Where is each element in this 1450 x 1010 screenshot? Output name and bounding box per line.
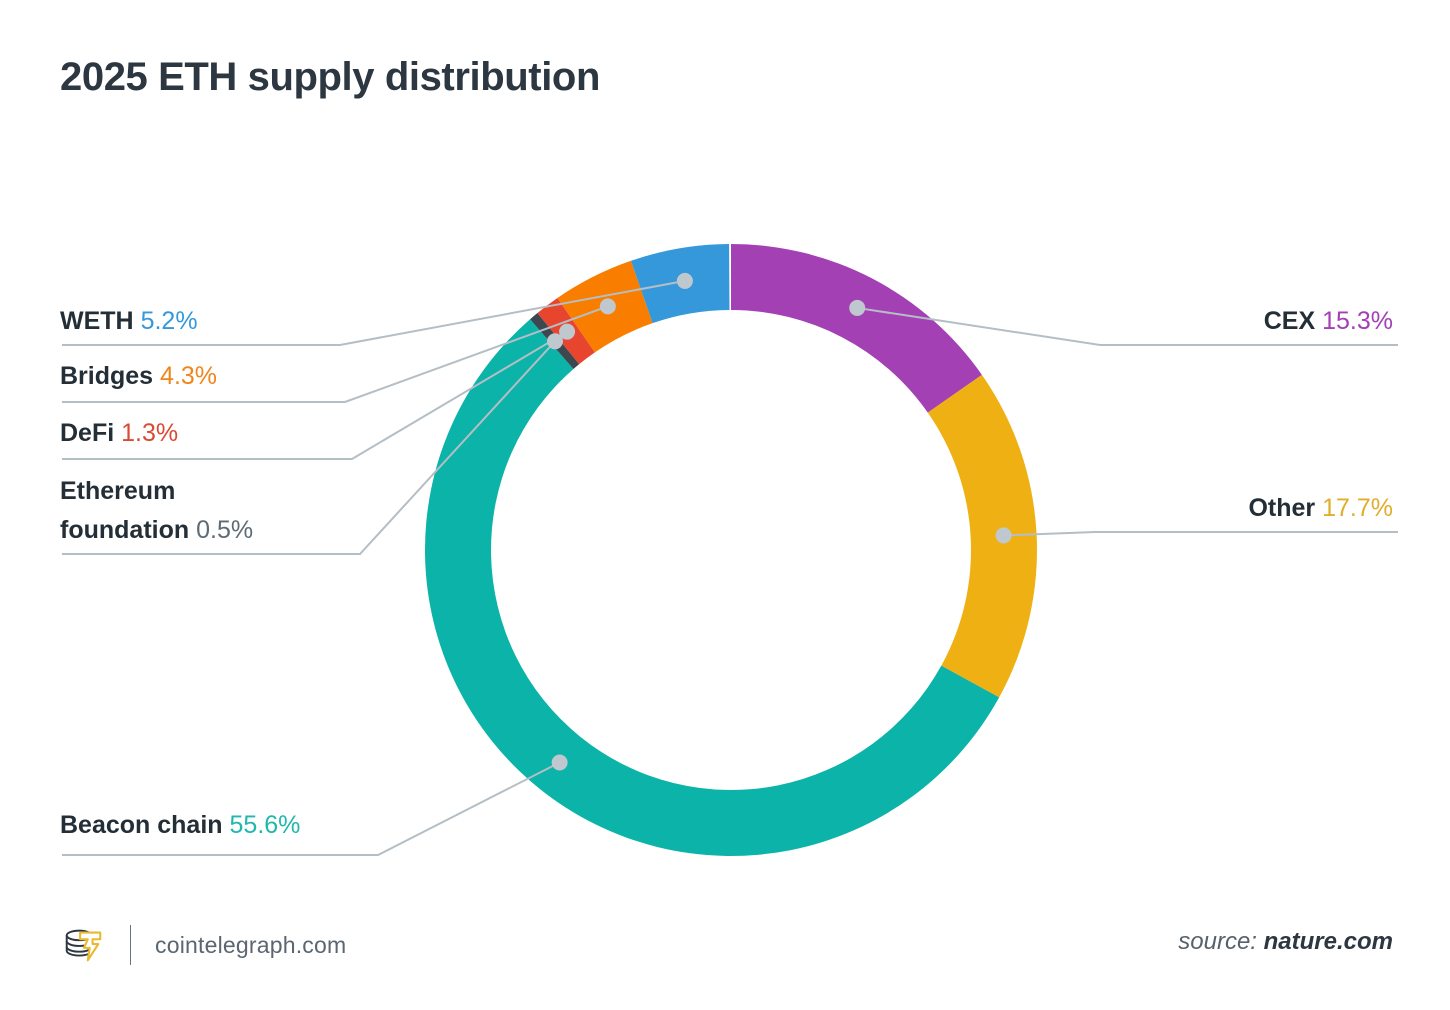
donut-slice-beacon-chain [425,319,999,856]
callout-beacon-chain: Beacon chain 55.6% [60,806,300,845]
callout-other-value: 17.7% [1322,494,1393,522]
leader-dot-ethereum-foundation [547,333,563,349]
donut-slice-cex [731,244,982,413]
callout-bridges-category: Bridges [60,362,153,390]
callout-beacon-value: 55.6% [230,811,301,839]
callout-other: Other 17.7% [1248,489,1393,528]
callout-defi-value: 1.3% [121,419,178,447]
callout-ef-category-line2: foundation [60,516,189,544]
leader-line-other [1004,532,1398,535]
callout-weth-value: 5.2% [141,307,198,335]
source-label: source: [1178,928,1257,955]
footer: cointelegraph.com source: nature.com [0,900,1450,1010]
donut-slice-group [425,244,1037,856]
callout-ef-value: 0.5% [196,516,253,544]
callout-bridges-value: 4.3% [160,362,217,390]
callout-defi: DeFi 1.3% [60,414,178,453]
callout-cex: CEX 15.3% [1264,302,1393,341]
brand-divider [130,925,131,965]
callout-weth: WETH 5.2% [60,302,198,341]
source-name: nature.com [1264,928,1393,955]
brand-block: cointelegraph.com [60,922,346,968]
leader-dot-bridges [600,298,616,314]
leader-dot-cex [849,300,865,316]
donut-slice-other [928,375,1037,698]
callout-other-category: Other [1248,494,1315,522]
callout-beacon-category: Beacon chain [60,811,223,839]
callout-defi-category: DeFi [60,419,114,447]
chart-page: 2025 ETH supply distribution WETH 5.2% B… [0,0,1450,1010]
leader-dot-beacon-chain [552,755,568,771]
leader-line-group [62,281,1398,855]
callout-cex-value: 15.3% [1322,307,1393,335]
callout-ef-category-line1: Ethereum [60,477,175,505]
brand-url: cointelegraph.com [155,932,346,959]
cointelegraph-logo-icon [60,922,106,968]
callout-bridges: Bridges 4.3% [60,357,217,396]
callout-ethereum-foundation: Ethereum foundation 0.5% [60,472,390,550]
leader-dot-weth [677,273,693,289]
leader-dot-other [996,527,1012,543]
callout-cex-category: CEX [1264,307,1315,335]
callout-weth-category: WETH [60,307,134,335]
source-attribution: source: nature.com [1178,928,1393,956]
